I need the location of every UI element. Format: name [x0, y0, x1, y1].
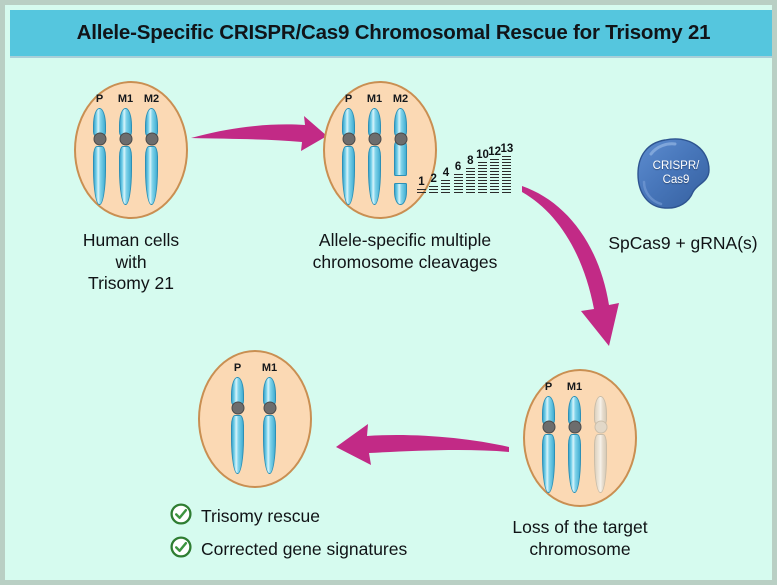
ladder-band: [466, 180, 475, 181]
ladder-band: [502, 168, 511, 169]
ladder-band: [478, 171, 487, 172]
ladder-bands: [466, 168, 475, 195]
ladder-group: 12: [490, 159, 499, 195]
chromosome-arm-long: [568, 434, 581, 493]
chromosome-arm-long: [263, 415, 276, 474]
ladder-band: [466, 186, 475, 187]
centromere: [368, 133, 381, 146]
chromosome-arm-long: [145, 146, 158, 205]
chromosome-label: M1: [118, 93, 133, 105]
chromosome-label: M1: [262, 362, 277, 374]
ladder-band: [490, 159, 499, 160]
chromosome-label: P: [545, 381, 552, 393]
ladder-label: 12: [488, 146, 501, 158]
ladder-band: [454, 189, 463, 190]
caption-step2: Allele-specific multiple chromosome clea…: [277, 230, 533, 273]
ladder-band: [502, 159, 511, 160]
ladder-band: [454, 180, 463, 181]
chromosome-arm-long: [231, 415, 244, 474]
ladder-band: [490, 165, 499, 166]
centromere: [93, 133, 106, 146]
ladder-band: [454, 192, 463, 193]
ladder-label: 4: [443, 167, 449, 179]
outcome-row-corrected-gene-signatures: Corrected gene signatures: [170, 536, 407, 563]
ladder-band: [490, 162, 499, 163]
outcome-row-trisomy-rescue: Trisomy rescue: [170, 503, 320, 530]
chromosome-label: M1: [567, 381, 582, 393]
ladder-band: [466, 168, 475, 169]
chromosome-p-step4: P: [231, 377, 244, 474]
caption-step3: Loss of the target chromosome: [490, 517, 670, 560]
centromere: [145, 133, 158, 146]
ladder-label: 6: [455, 161, 461, 173]
ladder-band: [441, 180, 450, 181]
ladder-band: [441, 183, 450, 184]
chromosome-p-step1: P: [93, 108, 106, 205]
figure-root: Allele-Specific CRISPR/Cas9 Chromosomal …: [0, 0, 777, 585]
cleavage-ladder: 12468101213: [417, 143, 517, 195]
chromosome-label: P: [234, 362, 241, 374]
ladder-band: [429, 189, 438, 190]
ladder-band: [490, 192, 499, 193]
ladder-band: [502, 189, 511, 190]
ladder-band: [478, 162, 487, 163]
ladder-label: 13: [500, 143, 513, 155]
centromere: [594, 421, 607, 434]
ladder-label: 1: [418, 176, 424, 188]
ladder-band: [429, 186, 438, 187]
ladder-band: [441, 189, 450, 190]
caption-reagent: SpCas9 + gRNA(s): [595, 233, 771, 255]
chromosome-lost-ghost-step3: [594, 396, 607, 493]
ladder-band: [490, 174, 499, 175]
ladder-band: [478, 186, 487, 187]
ladder-bands: [478, 162, 487, 195]
ladder-label: 10: [476, 149, 489, 161]
ladder-band: [502, 156, 511, 157]
ladder-band: [490, 183, 499, 184]
ladder-bands: [417, 189, 426, 195]
centromere: [119, 133, 132, 146]
chromosome-p-step3: P: [542, 396, 555, 493]
centromere: [394, 133, 407, 146]
ladder-band: [466, 177, 475, 178]
ladder-band: [490, 171, 499, 172]
ladder-group: 8: [466, 168, 475, 195]
ladder-band: [502, 165, 511, 166]
chromosome-arm-long: [542, 434, 555, 493]
cas9-blob-shape: [635, 138, 717, 210]
ladder-band: [466, 192, 475, 193]
ladder-band: [490, 177, 499, 178]
ladder-band: [502, 162, 511, 163]
ladder-band: [466, 189, 475, 190]
chromosome-label: P: [345, 93, 352, 105]
chromosome-m2-step1: M2: [145, 108, 158, 205]
ladder-band: [490, 168, 499, 169]
chromosome-m1-step4: M1: [263, 377, 276, 474]
check-circle-icon: [170, 503, 192, 530]
ladder-band: [490, 189, 499, 190]
centromere: [568, 421, 581, 434]
ladder-band: [441, 186, 450, 187]
cas9-blob: CRISPR/ Cas9: [635, 138, 717, 210]
ladder-band: [502, 174, 511, 175]
ladder-bands: [441, 180, 450, 195]
ladder-group: 13: [502, 156, 511, 195]
ladder-label: 2: [430, 173, 436, 185]
centromere: [231, 402, 244, 415]
outcome-label: Trisomy rescue: [201, 506, 320, 527]
ladder-band: [454, 183, 463, 184]
ladder-band: [502, 171, 511, 172]
ladder-band: [441, 192, 450, 193]
chromosome-arm-long: [594, 434, 607, 493]
chromosome-arm-long: [342, 146, 355, 205]
check-circle-icon: [170, 536, 192, 563]
chromosome-label: M1: [367, 93, 382, 105]
ladder-bands: [502, 156, 511, 195]
cell-step4: [198, 350, 312, 488]
caption-step1: Human cells with Trisomy 21: [41, 230, 221, 295]
ladder-band: [417, 189, 426, 190]
ladder-group: 10: [478, 162, 487, 195]
chromosome-arm-long: [93, 146, 106, 205]
ladder-band: [478, 192, 487, 193]
centromere: [263, 402, 276, 415]
ladder-band: [466, 174, 475, 175]
ladder-band: [490, 186, 499, 187]
ladder-band: [478, 174, 487, 175]
arrow-step1-to-step2: [191, 116, 327, 151]
centromere: [342, 133, 355, 146]
chromosome-fragment: [394, 183, 407, 205]
ladder-band: [478, 189, 487, 190]
chromosome-label: M2: [393, 93, 408, 105]
ladder-group: 2: [429, 186, 438, 195]
chromosome-m2-step2-cleaved: M2: [394, 108, 407, 205]
arrow-step3-to-step4: [336, 424, 509, 465]
chromosome-label: P: [96, 93, 103, 105]
ladder-bands: [454, 174, 463, 195]
ladder-band: [478, 180, 487, 181]
ladder-band: [454, 186, 463, 187]
ladder-band: [429, 192, 438, 193]
outcome-label: Corrected gene signatures: [201, 539, 407, 560]
ladder-band: [478, 183, 487, 184]
ladder-band: [478, 165, 487, 166]
ladder-group: 6: [454, 174, 463, 195]
chromosome-m1-step2: M1: [368, 108, 381, 205]
chromosome-arm-long: [368, 146, 381, 205]
ladder-label: 8: [467, 155, 473, 167]
ladder-group: 4: [441, 180, 450, 195]
ladder-band: [502, 186, 511, 187]
chromosome-arm-long: [119, 146, 132, 205]
ladder-band: [502, 180, 511, 181]
ladder-bands: [490, 159, 499, 195]
ladder-band: [454, 177, 463, 178]
ladder-band: [478, 177, 487, 178]
ladder-band: [502, 183, 511, 184]
ladder-band: [466, 171, 475, 172]
arrow-step2-to-step3: [522, 186, 619, 346]
ladder-band: [502, 192, 511, 193]
ladder-band: [417, 192, 426, 193]
chromosome-m1-step1: M1: [119, 108, 132, 205]
centromere: [542, 421, 555, 434]
ladder-band: [490, 180, 499, 181]
ladder-band: [454, 174, 463, 175]
chromosome-label: M2: [144, 93, 159, 105]
chromosome-m1-step3: M1: [568, 396, 581, 493]
ladder-group: 1: [417, 189, 426, 195]
ladder-band: [478, 168, 487, 169]
ladder-band: [466, 183, 475, 184]
chromosome-p-step2: P: [342, 108, 355, 205]
ladder-bands: [429, 186, 438, 195]
ladder-band: [502, 177, 511, 178]
